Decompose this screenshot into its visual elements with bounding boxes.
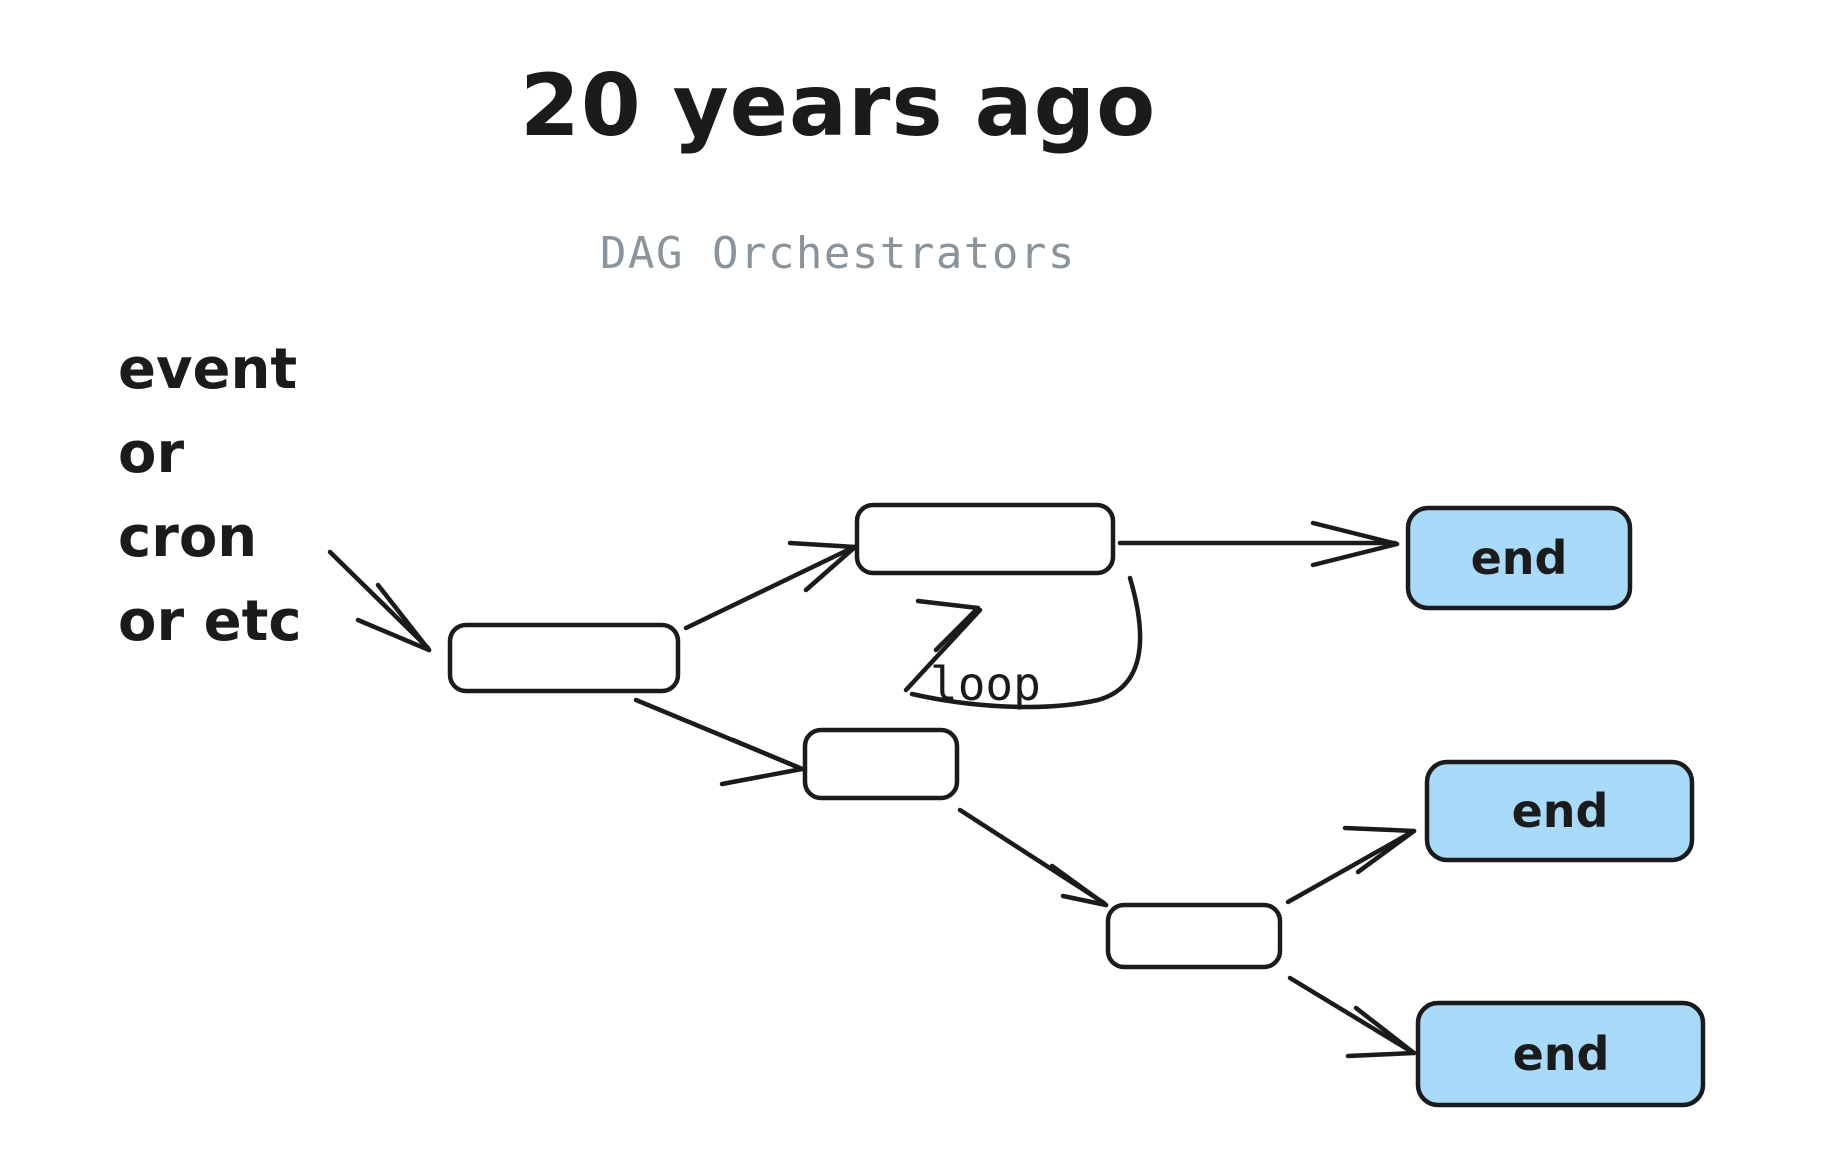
- source-line-2: or: [118, 421, 184, 486]
- edge-source-to-task1: [330, 552, 429, 650]
- node-end3-label: end: [1513, 1027, 1610, 1081]
- page-subtitle: DAG Orchestrators: [600, 228, 1076, 279]
- source-line-1: event: [118, 337, 297, 402]
- edge-task2-loop: loop: [906, 578, 1140, 711]
- node-task2-shape[interactable]: [857, 505, 1113, 573]
- node-task4-shape[interactable]: [1108, 905, 1280, 967]
- node-task2[interactable]: [857, 505, 1113, 573]
- edge-task1-to-task3: [636, 700, 802, 784]
- node-task3[interactable]: [805, 730, 957, 798]
- node-end1-label: end: [1471, 531, 1568, 585]
- node-task1[interactable]: [450, 625, 678, 691]
- edge-task3-to-task4: [960, 810, 1106, 905]
- node-task1-shape[interactable]: [450, 625, 678, 691]
- edge-task1-to-task2: [686, 543, 855, 628]
- source-line-4: or etc: [118, 589, 302, 654]
- node-task4[interactable]: [1108, 905, 1280, 967]
- node-end2-label: end: [1512, 784, 1609, 838]
- diagram-canvas: 20 years ago DAG Orchestrators event or …: [0, 0, 1825, 1159]
- edge-loop-label: loop: [930, 657, 1041, 711]
- edge-task2-to-end1: [1120, 523, 1397, 565]
- node-end2[interactable]: end: [1427, 762, 1692, 860]
- node-end3[interactable]: end: [1418, 1003, 1703, 1105]
- page-title: 20 years ago: [520, 56, 1156, 156]
- node-task3-shape[interactable]: [805, 730, 957, 798]
- node-end1[interactable]: end: [1408, 508, 1630, 608]
- edge-task4-to-end2: [1288, 828, 1414, 902]
- edge-task4-to-end3: [1290, 978, 1414, 1056]
- source-trigger-label: event or cron or etc: [118, 337, 302, 654]
- source-line-3: cron: [118, 505, 257, 570]
